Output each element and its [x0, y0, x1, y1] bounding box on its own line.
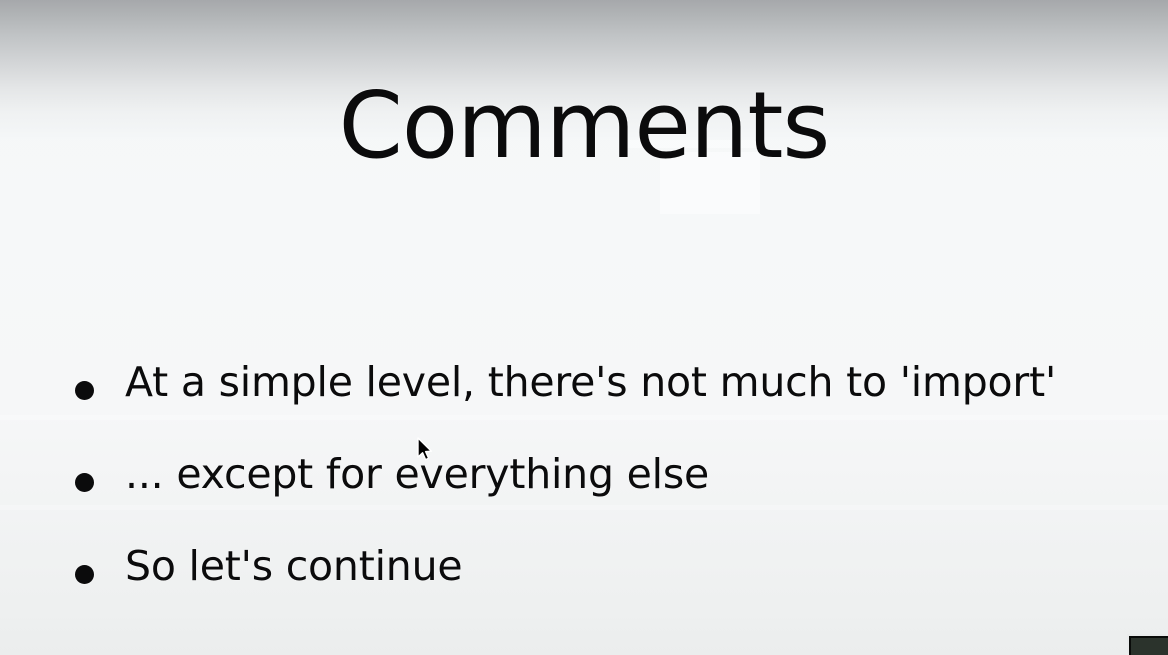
bullet-point-icon [75, 565, 94, 584]
list-item: So let's continue [68, 546, 1138, 638]
list-item: At a simple level, there's not much to '… [68, 362, 1138, 454]
presentation-slide: Comments At a simple level, there's not … [0, 0, 1168, 655]
bullet-point-icon [75, 381, 94, 400]
slide-title: Comments [0, 78, 1168, 175]
corner-window-artifact [1129, 636, 1168, 655]
slide-bullet-list: At a simple level, there's not much to '… [68, 362, 1138, 638]
bullet-text: At a simple level, there's not much to '… [125, 362, 1056, 403]
bullet-point-icon [75, 473, 94, 492]
bullet-text: ... except for everything else [125, 454, 709, 495]
list-item: ... except for everything else [68, 454, 1138, 546]
bullet-text: So let's continue [125, 546, 462, 587]
